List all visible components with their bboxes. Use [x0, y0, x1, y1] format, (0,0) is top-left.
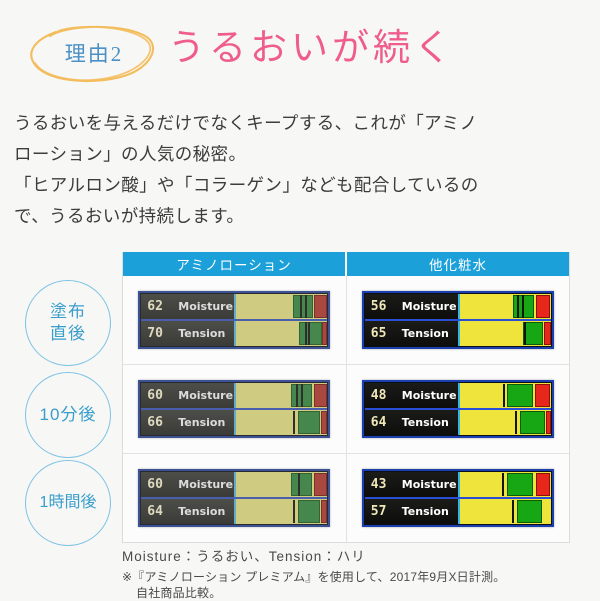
gauge-tension — [234, 499, 327, 524]
moisture-value: 43 — [371, 477, 395, 492]
device-line-tension: 65 Tension — [365, 321, 551, 346]
gauge-moisture — [234, 294, 327, 319]
device-line-tension: 64 Tension — [365, 410, 551, 435]
moisture-label: Moisture — [402, 478, 457, 491]
measurement-device: 60 Moisture 66 Tension — [138, 380, 330, 438]
device-line-tension: 66 Tension — [141, 410, 327, 435]
column-header-other: 他化粧水 — [347, 252, 569, 276]
readout-tension: 70 Tension — [141, 321, 234, 346]
moisture-label: Moisture — [178, 478, 233, 491]
measurement-device: 62 Moisture 70 Tension — [138, 291, 330, 349]
readout-tension: 57 Tension — [365, 499, 458, 524]
device-line-tension: 64 Tension — [141, 499, 327, 524]
readout-moisture: 62 Moisture — [141, 294, 234, 319]
tension-value: 64 — [371, 415, 395, 430]
gauge-tension — [234, 321, 327, 346]
measurement-device: 60 Moisture 64 Tension — [138, 469, 330, 527]
lead-line-2: ローション」の人気の秘密。 — [14, 139, 590, 170]
device-line-moisture: 43 Moisture — [365, 472, 551, 499]
stage-badge-10min: 10分後 — [25, 372, 111, 458]
measurement-device: 43 Moisture 57 Tension — [362, 469, 554, 527]
readout-moisture: 60 Moisture — [141, 383, 234, 408]
device-line-tension: 57 Tension — [365, 499, 551, 524]
disclaimer-sub: 自社商品比較。 — [122, 585, 592, 601]
reason-badge: 理由2 — [28, 22, 158, 84]
tension-value: 70 — [147, 326, 171, 341]
column-header-amino: アミノローション — [123, 252, 347, 276]
device-line-moisture: 60 Moisture — [141, 472, 327, 499]
table-row: 60 Moisture 64 Tension — [123, 453, 569, 542]
table-header-row: アミノローション 他化粧水 — [123, 252, 569, 276]
device-line-moisture: 48 Moisture — [365, 383, 551, 410]
device-line-tension: 70 Tension — [141, 321, 327, 346]
device-cell-other-immediate: 56 Moisture 65 Tension — [347, 276, 570, 364]
tension-label: Tension — [402, 327, 449, 340]
readout-moisture: 56 Moisture — [365, 294, 458, 319]
gauge-moisture — [234, 383, 327, 408]
reason-badge-label: 理由2 — [28, 22, 158, 84]
footnotes: Moisture：うるおい、Tension：ハリ ※『アミノローション プレミア… — [122, 545, 592, 601]
disclaimer-note: ※『アミノローション プレミアム』を使用して、2017年9月X日計測。 自社商品… — [122, 569, 592, 601]
device-cell-other-10min: 48 Moisture 64 Tension — [347, 365, 570, 453]
gauge-moisture — [234, 472, 327, 497]
moisture-label: Moisture — [402, 300, 457, 313]
readout-moisture: 48 Moisture — [365, 383, 458, 408]
readout-moisture: 43 Moisture — [365, 472, 458, 497]
device-line-moisture: 56 Moisture — [365, 294, 551, 321]
gauge-tension — [458, 321, 551, 346]
disclaimer-main: ※『アミノローション プレミアム』を使用して、2017年9月X日計測。 — [122, 570, 505, 584]
moisture-value: 48 — [371, 388, 395, 403]
moisture-value: 62 — [147, 299, 171, 314]
readout-tension: 65 Tension — [365, 321, 458, 346]
lead-line-3: 「ヒアルロン酸」や「コラーゲン」なども配合しているの — [14, 170, 590, 201]
moisture-label: Moisture — [178, 300, 233, 313]
tension-label: Tension — [178, 505, 225, 518]
moisture-value: 60 — [147, 388, 171, 403]
gauge-tension — [458, 410, 551, 435]
device-cell-amino-1hour: 60 Moisture 64 Tension — [123, 454, 347, 542]
gauge-moisture — [458, 472, 551, 497]
tension-label: Tension — [178, 416, 225, 429]
readout-tension: 64 Tension — [365, 410, 458, 435]
stage-badge-immediate: 塗布 直後 — [25, 280, 111, 366]
lead-line-4: で、うるおいが持続します。 — [14, 201, 590, 232]
readout-tension: 64 Tension — [141, 499, 234, 524]
tension-label: Tension — [402, 505, 449, 518]
moisture-value: 56 — [371, 299, 395, 314]
moisture-label: Moisture — [178, 389, 233, 402]
stage-badge-1hour: 1時間後 — [25, 460, 111, 546]
device-line-moisture: 60 Moisture — [141, 383, 327, 410]
tension-value: 57 — [371, 504, 395, 519]
lead-line-1: うるおいを与えるだけでなくキープする、これが「アミノ — [14, 108, 590, 139]
tension-label: Tension — [402, 416, 449, 429]
moisture-label: Moisture — [402, 389, 457, 402]
moisture-value: 60 — [147, 477, 171, 492]
gauge-moisture — [458, 383, 551, 408]
device-cell-other-1hour: 43 Moisture 57 Tension — [347, 454, 570, 542]
gauge-tension — [458, 499, 551, 524]
legend-text: Moisture：うるおい、Tension：ハリ — [122, 545, 592, 565]
page-title: うるおいが続く — [168, 17, 455, 71]
device-cell-amino-10min: 60 Moisture 66 Tension — [123, 365, 347, 453]
device-line-moisture: 62 Moisture — [141, 294, 327, 321]
measurement-device: 56 Moisture 65 Tension — [362, 291, 554, 349]
comparison-table: アミノローション 他化粧水 62 Moisture — [122, 252, 570, 543]
comparison-section: 塗布 直後 10分後 1時間後 アミノローション 他化粧水 62 Moistur… — [0, 248, 600, 538]
readout-tension: 66 Tension — [141, 410, 234, 435]
lead-paragraph: うるおいを与えるだけでなくキープする、これが「アミノ ローション」の人気の秘密。… — [14, 108, 590, 232]
page-header: 理由2 うるおいが続く — [0, 0, 600, 103]
device-cell-amino-immediate: 62 Moisture 70 Tension — [123, 276, 347, 364]
tension-value: 66 — [147, 415, 171, 430]
gauge-tension — [234, 410, 327, 435]
readout-moisture: 60 Moisture — [141, 472, 234, 497]
table-row: 60 Moisture 66 Tension — [123, 364, 569, 453]
measurement-device: 48 Moisture 64 Tension — [362, 380, 554, 438]
table-row: 62 Moisture 70 Tension — [123, 276, 569, 364]
tension-value: 64 — [147, 504, 171, 519]
tension-value: 65 — [371, 326, 395, 341]
tension-label: Tension — [178, 327, 225, 340]
gauge-moisture — [458, 294, 551, 319]
